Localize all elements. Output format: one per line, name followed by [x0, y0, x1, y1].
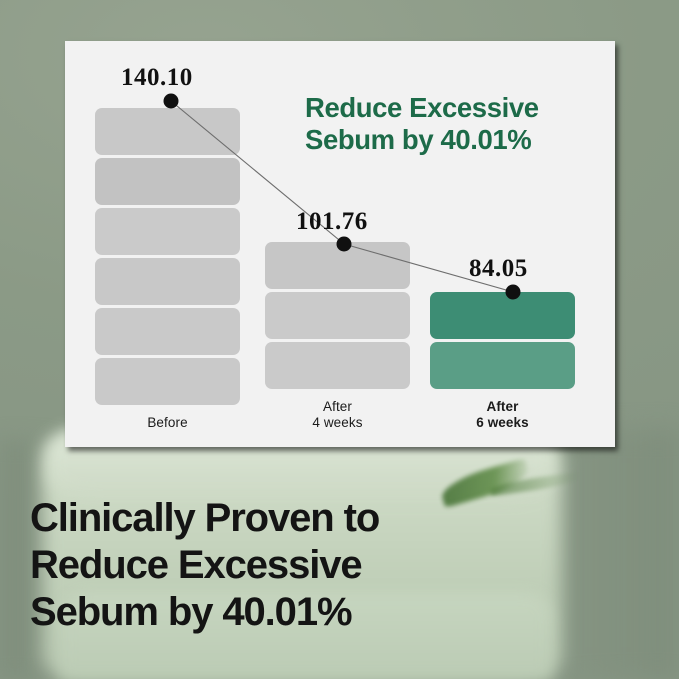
bar-segment	[265, 342, 410, 389]
chart-card: Before After 4 weeks After 6 weeks	[65, 41, 615, 447]
headline-line-1: Clinically Proven to	[30, 495, 550, 542]
bar-segment	[95, 258, 240, 305]
bar-segment-highlight	[430, 292, 575, 339]
bar-segment	[95, 108, 240, 155]
bar-before	[95, 108, 240, 405]
page-headline: Clinically Proven to Reduce Excessive Se…	[30, 495, 550, 636]
bar-segment	[95, 208, 240, 255]
data-point-marker-before	[164, 94, 179, 109]
bar-segment	[265, 292, 410, 339]
axis-label-before: Before	[147, 415, 187, 431]
axis-label-after-4-weeks: After 4 weeks	[312, 399, 362, 431]
bar-after-4-weeks	[265, 242, 410, 389]
leaf-secondary-icon	[490, 472, 581, 496]
headline-line-2: Reduce Excessive	[30, 542, 550, 589]
data-label-after-6-weeks: 84.05	[469, 255, 528, 283]
infographic-canvas: Before After 4 weeks After 6 weeks	[0, 0, 679, 679]
chart-column-after-6-weeks: After 6 weeks	[430, 292, 575, 431]
axis-label-after-6-weeks: After 6 weeks	[476, 399, 529, 431]
chart-heading: Reduce Excessive Sebum by 40.01%	[305, 92, 605, 156]
chart-column-before: Before	[95, 108, 240, 431]
data-label-after-4-weeks: 101.76	[296, 208, 368, 236]
data-label-before: 140.10	[121, 64, 193, 92]
bar-after-6-weeks	[430, 292, 575, 389]
bar-segment-highlight	[430, 342, 575, 389]
chart-heading-line-1: Reduce Excessive	[305, 92, 539, 123]
jar-shadow-right	[539, 430, 679, 679]
bar-segment	[265, 242, 410, 289]
chart-heading-line-2: Sebum by 40.01%	[305, 124, 531, 155]
bar-segment	[95, 358, 240, 405]
bar-segment	[95, 158, 240, 205]
chart-column-after-4-weeks: After 4 weeks	[265, 242, 410, 431]
headline-line-3: Sebum by 40.01%	[30, 589, 550, 636]
bar-segment	[95, 308, 240, 355]
bar-chart: Before After 4 weeks After 6 weeks	[65, 41, 615, 447]
